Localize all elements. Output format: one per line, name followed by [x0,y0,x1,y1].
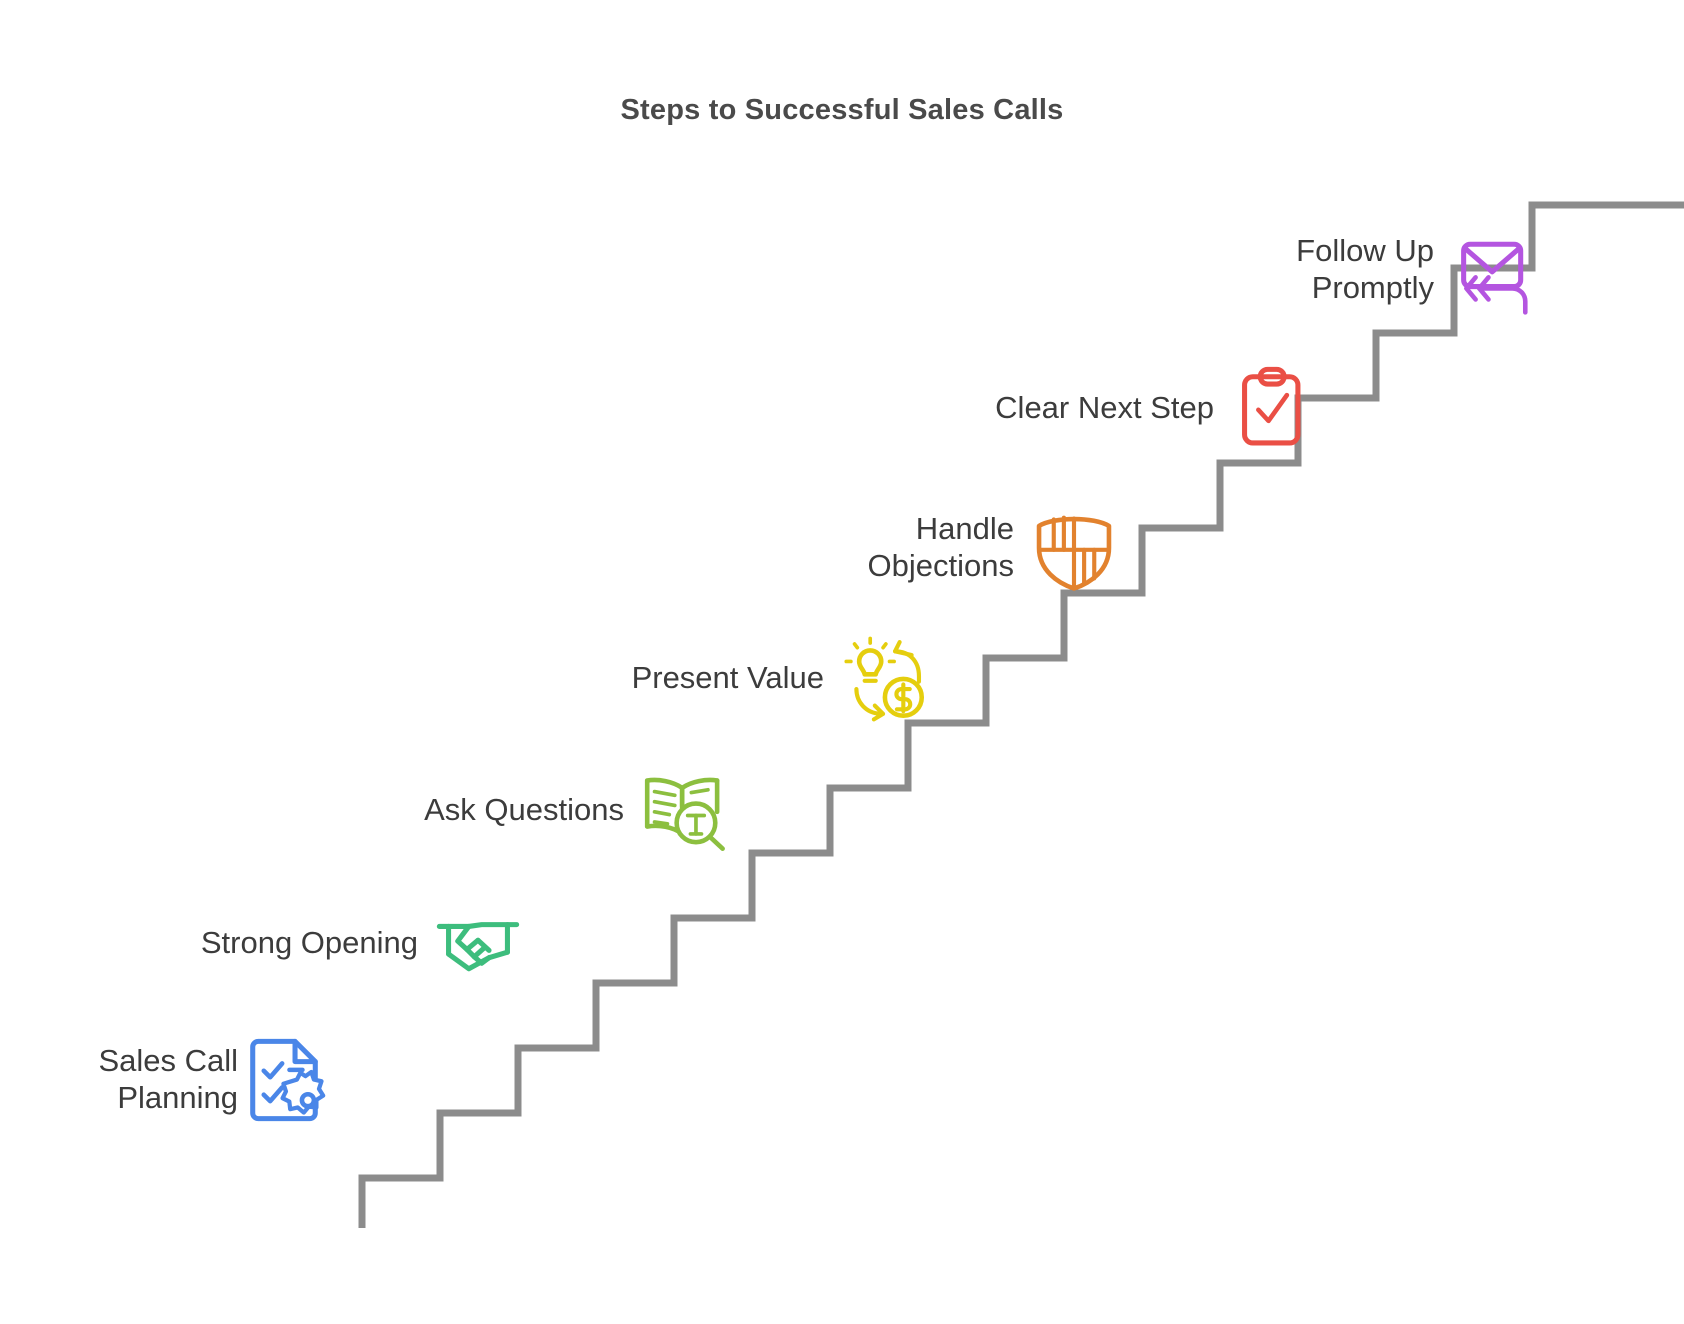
lightbulb-dollar-exchange-icon [838,632,930,724]
step-label: Strong Opening [201,925,432,962]
step-item-strong-opening[interactable]: Strong Opening [120,898,520,988]
step-item-clear-next-step[interactable]: Clear Next Step [830,358,1320,458]
envelope-reply-icon [1448,224,1540,316]
step-label: Sales Call Planning [98,1043,238,1116]
open-book-magnifier-icon [638,764,730,856]
step-item-follow-up-promptly[interactable]: Follow Up Promptly [1120,216,1540,324]
document-checklist-gear-icon [238,1034,330,1126]
step-label: Follow Up Promptly [1296,233,1448,306]
step-item-ask-questions[interactable]: Ask Questions [330,760,730,860]
step-label: Present Value [632,660,838,697]
handshake-icon [432,897,520,989]
step-label: Handle Objections [868,511,1028,584]
clipboard-check-icon [1228,362,1320,454]
infographic-canvas: Steps to Successful Sales Calls Follow U… [0,0,1684,1324]
shield-icon [1028,502,1120,594]
step-item-handle-objections[interactable]: Handle Objections [700,493,1120,603]
step-label: Clear Next Step [995,390,1228,427]
step-label: Ask Questions [424,792,638,829]
step-item-sales-call-planning[interactable]: Sales Call Planning [40,1025,330,1135]
step-item-present-value[interactable]: Present Value [530,628,930,728]
